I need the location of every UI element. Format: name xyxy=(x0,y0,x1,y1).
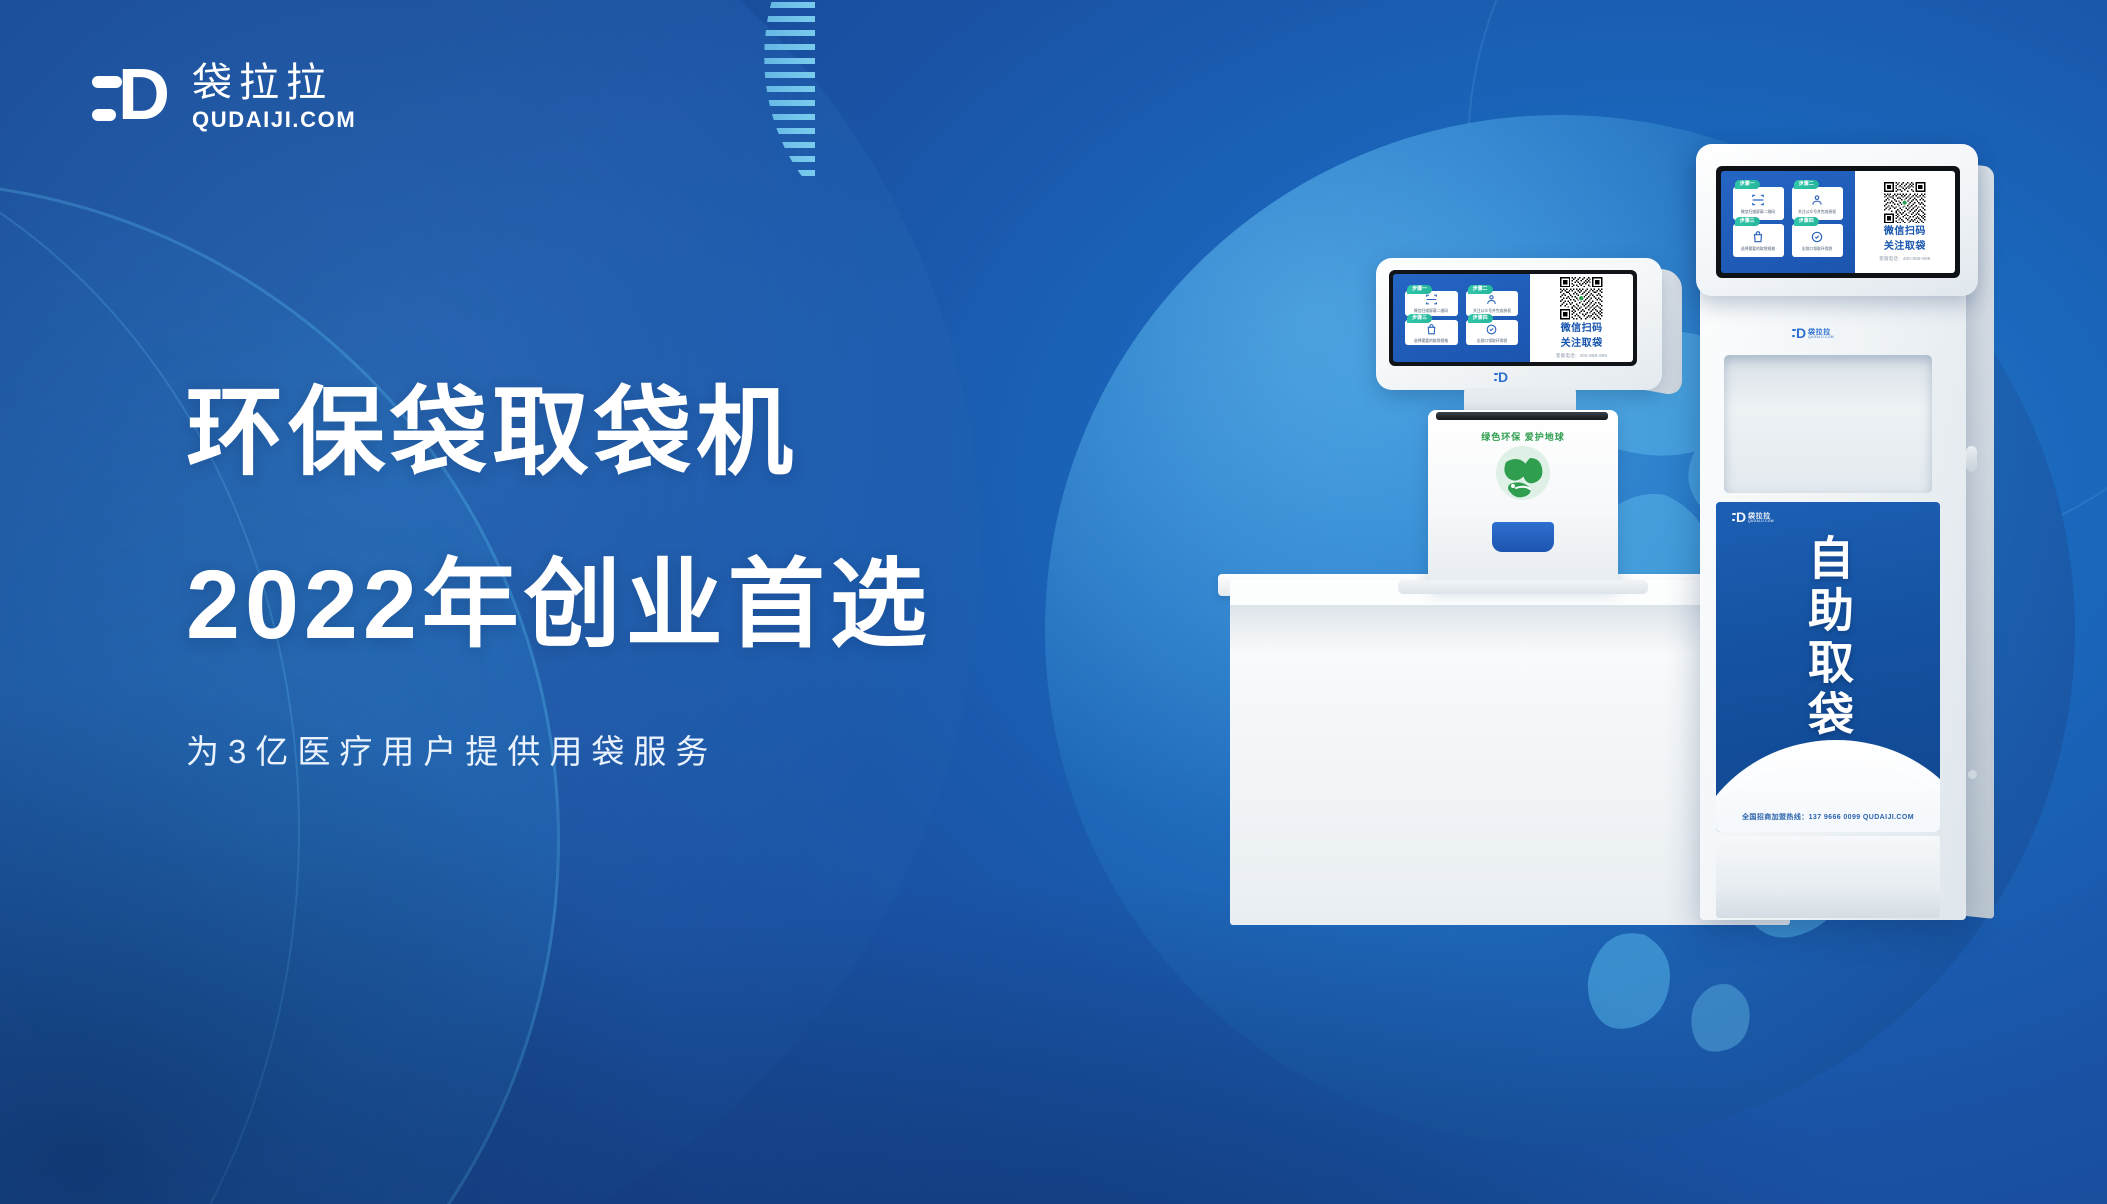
kiosk-step-card: 步骤二 关注公众号并完成授权 xyxy=(1466,291,1519,316)
promo-banner: D 袋拉拉 QUDAIJI.COM 环保袋取袋机 2022年创业首选 为3亿医疗… xyxy=(0,0,2107,1204)
panel-brand-domain: QUDAIJI.COM xyxy=(1748,520,1774,523)
step-chip: 步骤三 xyxy=(1407,314,1432,323)
scan-qr-icon xyxy=(1751,193,1765,207)
kiosk-screen-ui: 步骤一 微信扫描屏幕二维码 步骤二 关注公众号并完成授权 步骤三 xyxy=(1721,171,1955,273)
step-text: 出袋口领取环保袋 xyxy=(1475,338,1509,343)
hero-copy: 环保袋取袋机 2022年创业首选 为3亿医疗用户提供用袋服务 xyxy=(186,368,932,772)
kiosk-footer-note: 全国招商加盟热线：137 9666 0099 QUDAIJI.COM xyxy=(1716,812,1940,822)
panel-brand-logo: D 袋拉拉 QUDAIJI.COM xyxy=(1732,512,1774,524)
step-text: 选择需要的取袋规格 xyxy=(1739,246,1777,251)
kiosk-step-card: 步骤一 微信扫描屏幕二维码 xyxy=(1733,187,1784,219)
kiosk-base xyxy=(1716,836,1940,918)
kiosk-brand-text: 袋拉拉 QUDAIJI.COM xyxy=(1808,329,1834,339)
kiosk-cta-line-2: 关注取袋 xyxy=(1561,338,1603,350)
logo-letter-d: D xyxy=(1736,509,1746,525)
floor-standing-kiosk: 步骤一 微信扫描屏幕二维码 步骤二 关注公众号并完成授权 步骤三 xyxy=(1700,150,2000,930)
kiosk-step-card: 步骤一 微信扫描屏幕二维码 xyxy=(1405,291,1458,316)
qudaiji-d-mark-icon: D xyxy=(92,65,174,131)
desktop-kiosk-dispense-slot xyxy=(1436,412,1608,420)
logo-dash-bottom-icon xyxy=(1494,379,1497,381)
logo-dash-bottom-icon xyxy=(1792,335,1795,337)
brand-name-cn: 袋拉拉 xyxy=(192,62,356,104)
step-text: 出袋口领取环保袋 xyxy=(1800,246,1834,251)
kiosk-dispense-recess xyxy=(1724,355,1932,493)
kiosk-touchscreen[interactable]: 步骤一 微信扫描屏幕二维码 步骤二 关注公众号并完成授权 步骤三 xyxy=(1716,166,1960,278)
kiosk-cta-line-1: 微信扫码 xyxy=(1884,226,1926,238)
take-bag-icon xyxy=(1485,323,1498,336)
kiosk-step-card: 步骤四 出袋口领取环保袋 xyxy=(1792,224,1843,256)
logo-letter-d: D xyxy=(1796,325,1806,341)
kiosk-branding-panel: D 袋拉拉 QUDAIJI.COM 自助取袋机 全国招商加盟热线：137 966… xyxy=(1716,502,1940,832)
kiosk-brand-logo: D 袋拉拉 QUDAIJI.COM xyxy=(1792,328,1834,340)
kiosk-steps-panel: 步骤一 微信扫描屏幕二维码 步骤二 关注公众号并完成授权 步骤三 xyxy=(1393,274,1530,362)
kiosk-side-handle[interactable] xyxy=(1966,446,1977,472)
logo-letter-d: D xyxy=(118,65,168,125)
kiosk-qr-panel: 微信扫码 关注取袋 客服电话：400-888-999 xyxy=(1855,171,1955,273)
dispensed-bag xyxy=(1492,522,1554,552)
qudaiji-d-mark-icon: D xyxy=(1732,512,1745,524)
step-text: 关注公众号并完成授权 xyxy=(1796,209,1838,214)
panel-brand-text: 袋拉拉 QUDAIJI.COM xyxy=(1748,513,1774,523)
kiosk-service-phone: 客服电话：400-888-999 xyxy=(1879,256,1930,262)
brand-domain: QUDAIJI.COM xyxy=(192,107,356,133)
desktop-kiosk-screen[interactable]: 步骤一 微信扫描屏幕二维码 步骤二 关注公众号并完成授权 步骤三 xyxy=(1389,270,1637,366)
qudaiji-d-mark-icon: D xyxy=(1494,372,1507,384)
kiosk-cta-line-1: 微信扫码 xyxy=(1561,323,1603,335)
kiosk-step-card: 步骤三 选择需要的取袋规格 xyxy=(1405,320,1458,345)
eco-globe-icon xyxy=(1496,446,1550,500)
brand-logo: D 袋拉拉 QUDAIJI.COM xyxy=(92,62,356,133)
eco-label: 绿色环保 爱护地球 xyxy=(1428,430,1618,443)
kiosk-qr-panel: 微信扫码 关注取袋 客服电话：400-888-999 xyxy=(1530,274,1633,362)
step-chip: 步骤三 xyxy=(1735,217,1760,226)
kiosk-service-phone: 客服电话：400-888-999 xyxy=(1556,353,1607,359)
select-bag-icon xyxy=(1751,230,1765,244)
logo-dash-bottom-icon xyxy=(1732,519,1735,521)
step-chip: 步骤四 xyxy=(1468,314,1493,323)
step-text: 选择需要的取袋规格 xyxy=(1412,338,1450,343)
step-chip: 步骤一 xyxy=(1735,180,1760,189)
kiosk-brand-domain: QUDAIJI.COM xyxy=(1808,336,1834,339)
kiosk-step-card: 步骤四 出袋口领取环保袋 xyxy=(1466,320,1519,345)
logo-letter-d: D xyxy=(1498,369,1508,385)
scan-qr-icon xyxy=(1425,293,1438,306)
step-text: 微信扫描屏幕二维码 xyxy=(1412,309,1450,314)
kiosk-screen-ui: 步骤一 微信扫描屏幕二维码 步骤二 关注公众号并完成授权 步骤三 xyxy=(1393,274,1633,362)
hero-subtitle: 为3亿医疗用户提供用袋服务 xyxy=(186,732,932,772)
follow-account-icon xyxy=(1485,293,1498,306)
desktop-kiosk-body: 绿色环保 爱护地球 xyxy=(1428,410,1618,586)
wechat-qr-code-icon xyxy=(1560,277,1602,319)
desktop-kiosk: 步骤一 微信扫描屏幕二维码 步骤二 关注公众号并完成授权 步骤三 xyxy=(1376,258,1686,598)
desktop-kiosk-brand-logo: D xyxy=(1494,372,1507,384)
kiosk-step-card: 步骤二 关注公众号并完成授权 xyxy=(1792,187,1843,219)
step-text: 微信扫描屏幕二维码 xyxy=(1739,209,1777,214)
step-chip: 步骤一 xyxy=(1407,285,1432,294)
follow-account-icon xyxy=(1810,193,1824,207)
select-bag-icon xyxy=(1425,323,1438,336)
desktop-kiosk-base xyxy=(1398,580,1648,594)
kiosk-side-screw-icon xyxy=(1968,770,1977,779)
headline-line-1: 环保袋取袋机 xyxy=(186,368,932,498)
step-text: 关注公众号并完成授权 xyxy=(1471,309,1513,314)
kiosk-cta-line-2: 关注取袋 xyxy=(1884,241,1926,253)
take-bag-icon xyxy=(1810,230,1824,244)
qudaiji-d-mark-icon: D xyxy=(1792,328,1805,340)
wechat-qr-code-icon xyxy=(1884,182,1925,223)
step-chip: 步骤二 xyxy=(1794,180,1819,189)
step-chip: 步骤四 xyxy=(1794,217,1819,226)
kiosk-steps-panel: 步骤一 微信扫描屏幕二维码 步骤二 关注公众号并完成授权 步骤三 xyxy=(1721,171,1855,273)
kiosk-step-card: 步骤三 选择需要的取袋规格 xyxy=(1733,224,1784,256)
step-chip: 步骤二 xyxy=(1468,285,1493,294)
headline-line-2: 2022年创业首选 xyxy=(186,540,932,670)
product-scene: 步骤一 微信扫描屏幕二维码 步骤二 关注公众号并完成授权 步骤三 xyxy=(1180,150,2100,950)
logo-dash-bottom-icon xyxy=(92,109,116,121)
brand-logo-text: 袋拉拉 QUDAIJI.COM xyxy=(192,62,356,133)
